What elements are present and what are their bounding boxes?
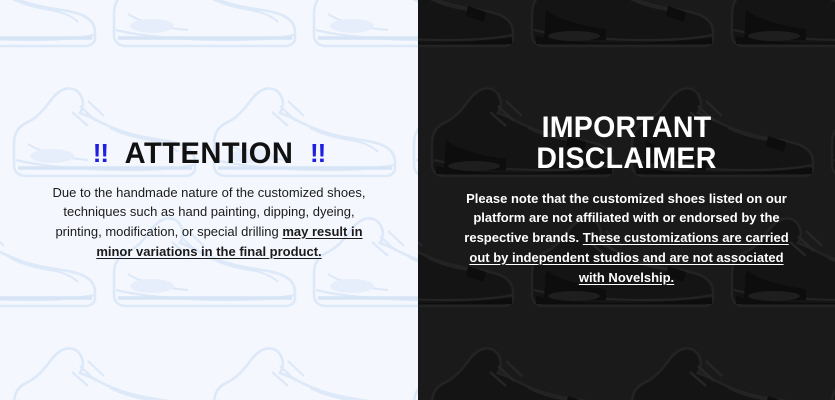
disclaimer-body: Please note that the customized shoes li… <box>462 189 791 288</box>
double-exclamation-left-icon: !! <box>93 140 108 166</box>
double-exclamation-right-icon: !! <box>310 140 325 166</box>
attention-panel: !! ATTENTION !! Due to the handmade natu… <box>0 0 418 400</box>
disclaimer-panel: IMPORTANT DISCLAIMER Please note that th… <box>418 0 835 400</box>
attention-heading-row: !! ATTENTION !! <box>48 139 370 169</box>
attention-content: !! ATTENTION !! Due to the handmade natu… <box>0 139 418 262</box>
disclaimer-heading-line-1: IMPORTANT <box>470 113 783 144</box>
disclaimer-heading: IMPORTANT DISCLAIMER <box>470 113 783 175</box>
disclaimer-heading-line-2: DISCLAIMER <box>470 144 783 175</box>
attention-heading: ATTENTION <box>125 139 294 169</box>
disclaimer-content: IMPORTANT DISCLAIMER Please note that th… <box>418 113 835 288</box>
attention-body: Due to the handmade nature of the custom… <box>48 183 370 262</box>
disclaimer-banner: !! ATTENTION !! Due to the handmade natu… <box>0 0 835 400</box>
